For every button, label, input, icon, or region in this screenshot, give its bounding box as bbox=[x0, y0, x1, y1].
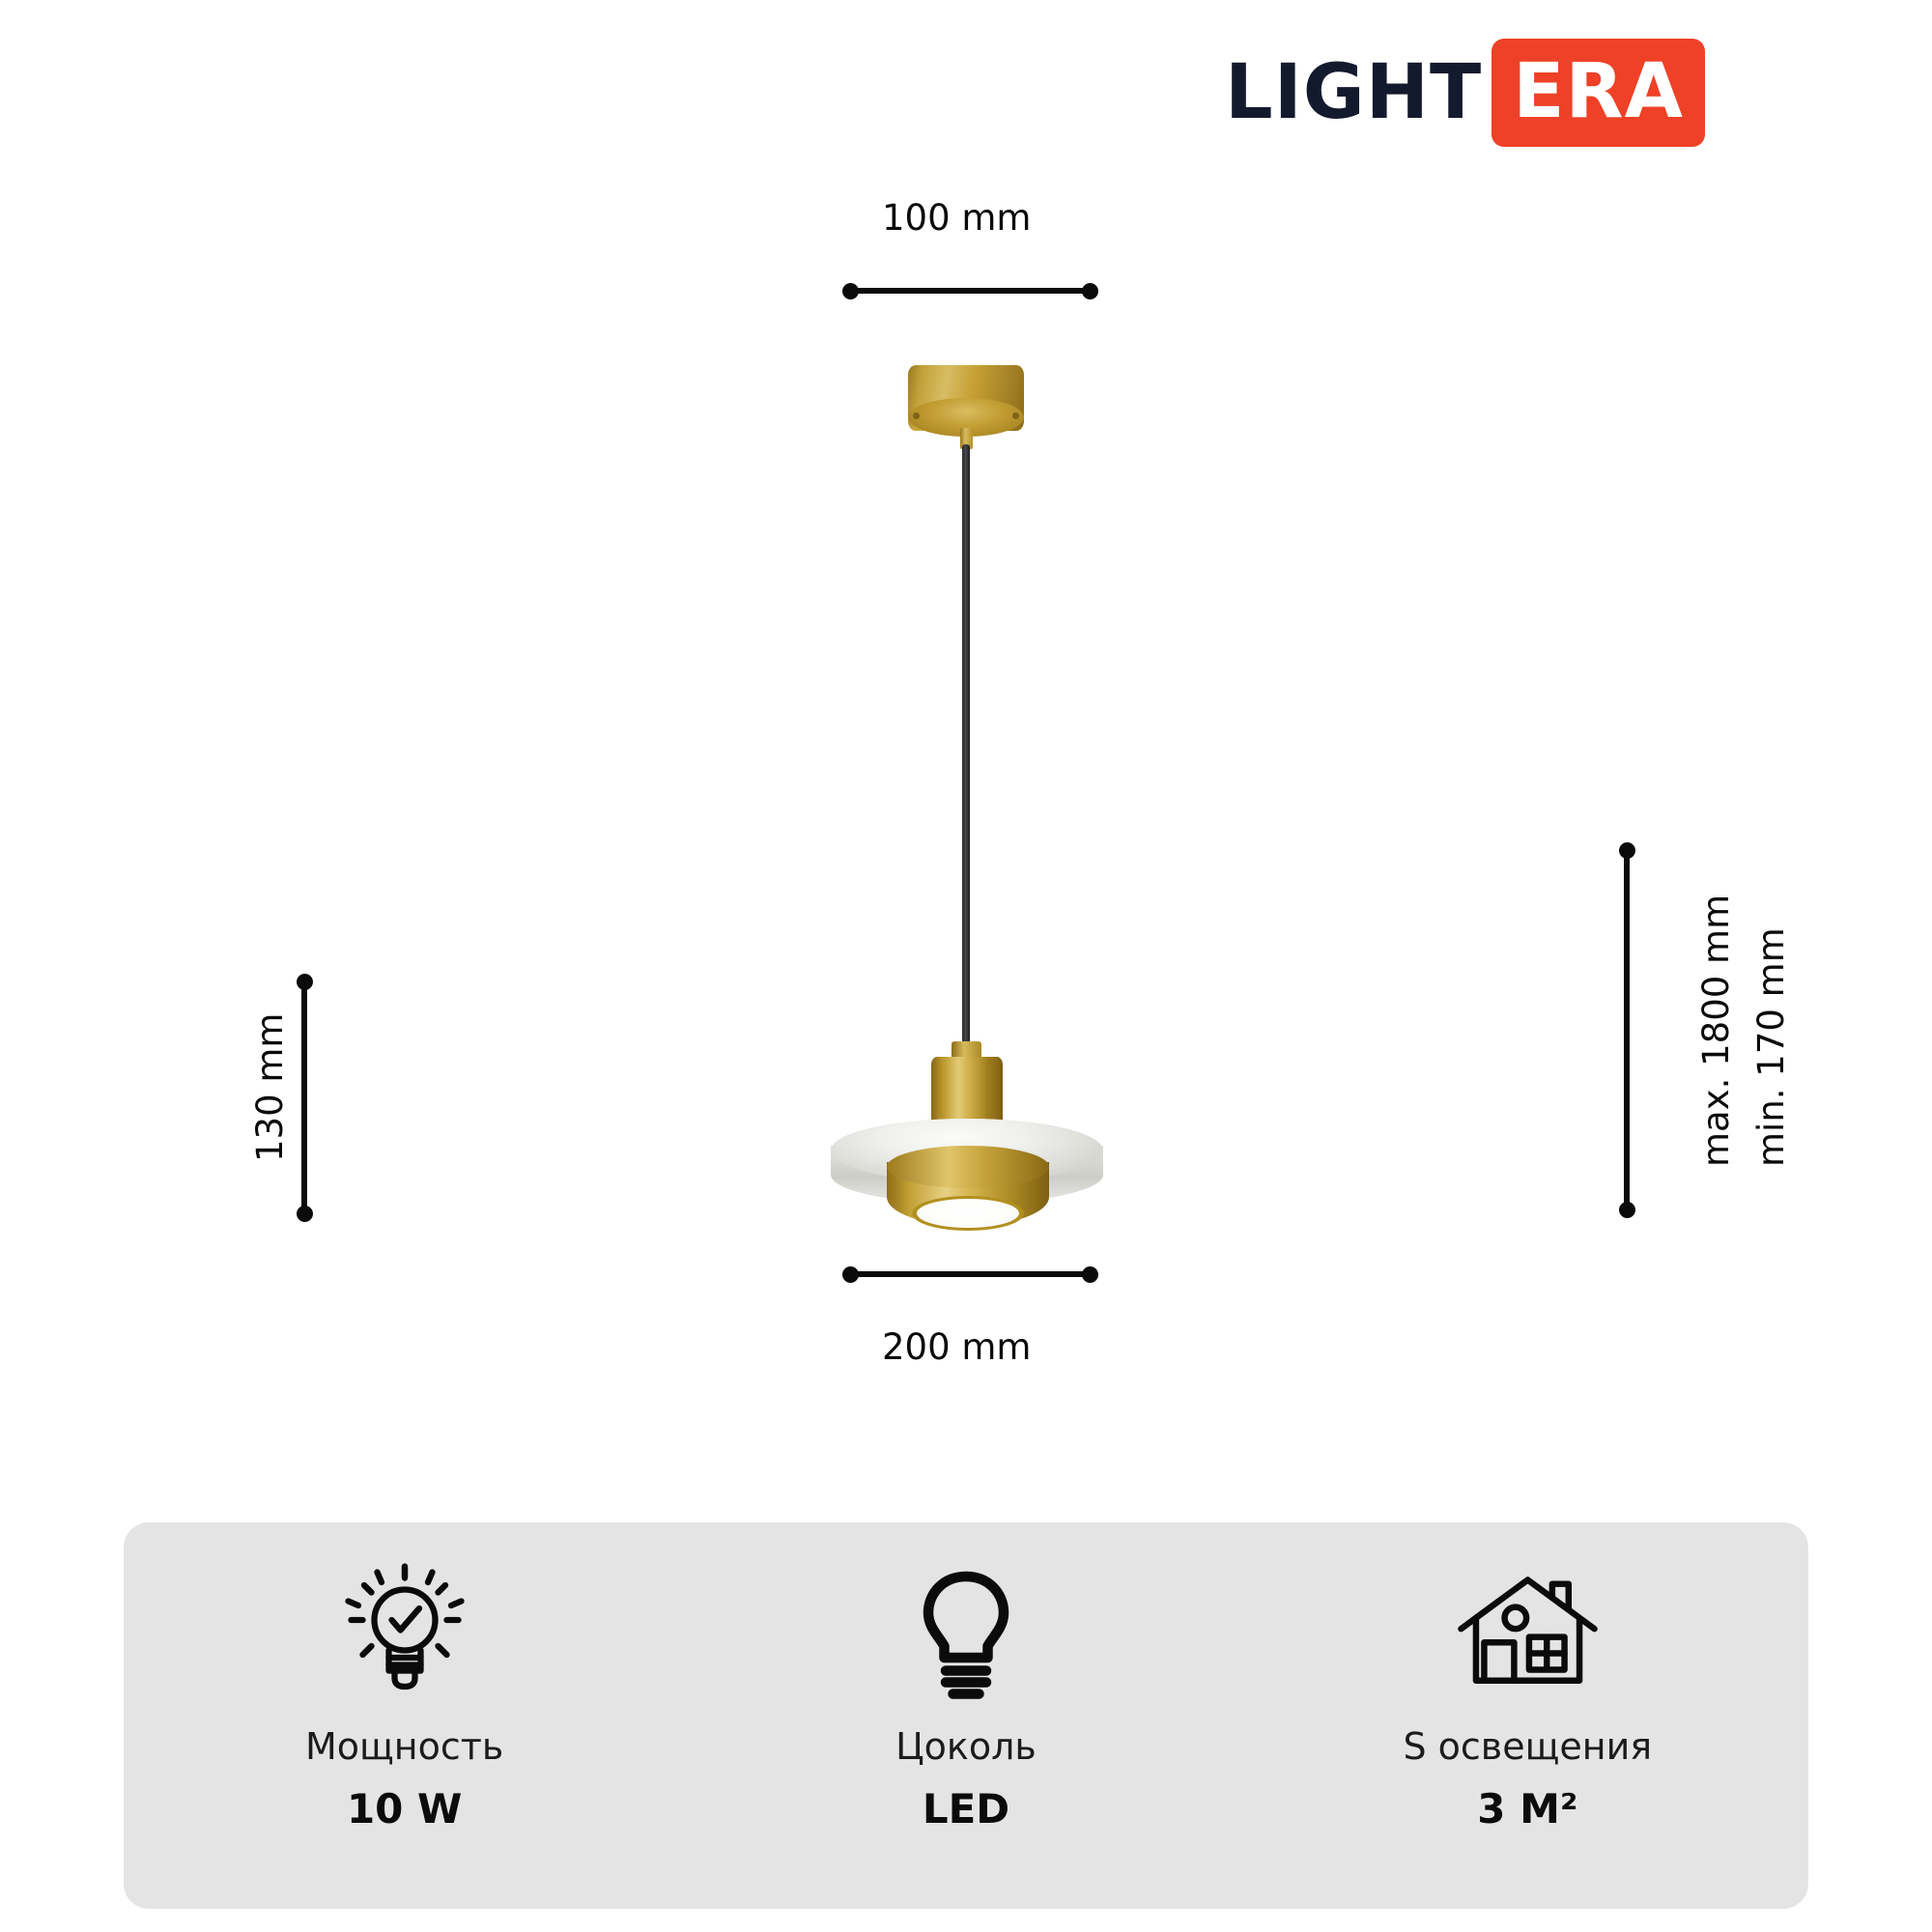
spec-title-area: S освещения bbox=[1403, 1725, 1652, 1768]
house-icon bbox=[1453, 1559, 1603, 1704]
spec-value-power: 10 W bbox=[347, 1785, 462, 1833]
dimension-dot-suspension-bottom bbox=[1619, 1202, 1635, 1218]
bulb-check-icon bbox=[332, 1559, 477, 1704]
product-spec-sheet: LIGHT ERA 100 mm 130 mm 200 mm max. 1800… bbox=[0, 0, 1932, 1932]
dimension-line-shade-height bbox=[301, 980, 307, 1212]
bulb-icon bbox=[894, 1559, 1038, 1704]
dimension-line-suspension bbox=[1624, 850, 1630, 1209]
dimension-label-canopy-width: 100 mm bbox=[882, 197, 1031, 239]
spec-value-area: 3 М² bbox=[1477, 1785, 1577, 1833]
dimension-dot-canopy-right bbox=[1082, 283, 1098, 299]
brand-logo-era-badge: ERA bbox=[1492, 39, 1705, 147]
suspension-cord bbox=[962, 444, 970, 1043]
spec-column-socket: Цоколь LED bbox=[685, 1522, 1246, 1909]
dimension-dot-canopy-left bbox=[842, 283, 859, 299]
dimension-label-shade-width: 200 mm bbox=[882, 1326, 1031, 1368]
spec-title-socket: Цоколь bbox=[895, 1725, 1037, 1768]
dimension-label-shade-height: 130 mm bbox=[249, 1013, 291, 1162]
dimension-label-suspension-min: min. 170 mm bbox=[1750, 927, 1792, 1167]
spec-value-socket: LED bbox=[923, 1785, 1009, 1833]
specification-panel: Мощность 10 W Цоколь LED bbox=[124, 1522, 1808, 1909]
spec-title-power: Мощность bbox=[305, 1725, 503, 1768]
spec-column-power: Мощность 10 W bbox=[124, 1522, 685, 1909]
canopy-screw-right bbox=[1012, 412, 1019, 419]
led-diffuser bbox=[917, 1199, 1019, 1228]
brand-logo-era-text: ERA bbox=[1513, 48, 1684, 135]
dimension-line-shade-width bbox=[850, 1271, 1090, 1277]
dimension-dot-height-top bbox=[297, 974, 313, 990]
canopy-screw-left bbox=[913, 412, 920, 419]
brand-logo: LIGHT ERA bbox=[1225, 39, 1705, 147]
dimension-label-suspension-max: max. 1800 mm bbox=[1695, 895, 1737, 1167]
spec-column-area: S освещения 3 М² bbox=[1247, 1522, 1808, 1909]
dimension-dot-width-right bbox=[1082, 1266, 1098, 1283]
dimension-dot-suspension-top bbox=[1619, 842, 1635, 859]
dimension-line-canopy-width bbox=[850, 288, 1090, 294]
dimension-dot-height-bottom bbox=[297, 1206, 313, 1222]
dimension-dot-width-left bbox=[842, 1266, 859, 1283]
brand-logo-light-text: LIGHT bbox=[1225, 55, 1488, 130]
brass-ring-top bbox=[887, 1146, 1049, 1188]
